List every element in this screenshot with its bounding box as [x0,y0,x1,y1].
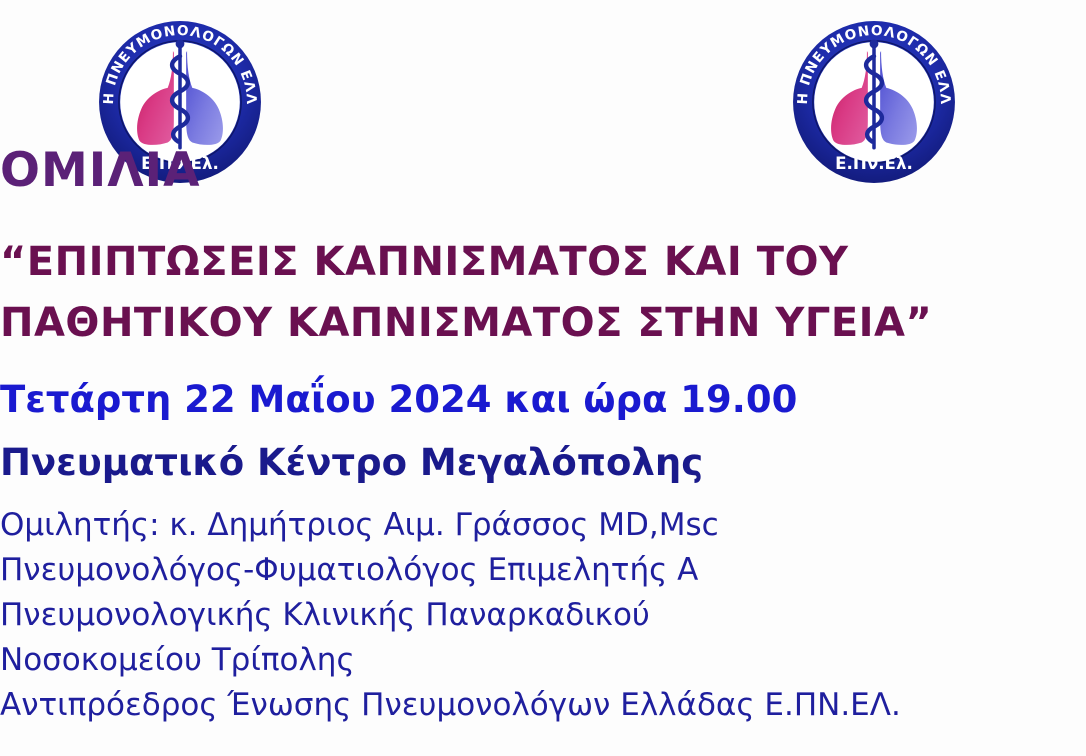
event-datetime: Τετάρτη 22 Μαΐου 2024 και ώρα 19.00 [0,368,1086,431]
poster-subject-title: “ΕΠΙΠΤΩΣΕΙΣ ΚΑΠΝΙΣΜΑΤΟΣ ΚΑΙ ΤΟΥ ΠΑΘΗΤΙΚΟ… [0,232,1086,354]
speaker-details: Ομιλητής: κ. Δημήτριος Αιμ. Γράσσος MD,M… [0,503,1086,728]
subject-line-2: ΠΑΘΗΤΙΚΟΥ ΚΑΠΝΙΣΜΑΤΟΣ ΣΤΗΝ ΥΓΕΙΑ” [0,293,1086,354]
speaker-name-line: Ομιλητής: κ. Δημήτριος Αιμ. Γράσσος MD,M… [0,503,1086,548]
poster-heading: ΟΜΙΛΙΑ [0,143,1086,198]
poster-datetime-venue: Τετάρτη 22 Μαΐου 2024 και ώρα 19.00 Πνευ… [0,368,1086,494]
speaker-hospital-line: Νοσοκομείου Τρίπολης [0,638,1086,683]
speaker-title-line: Πνευμονολόγος-Φυματιολόγος Επιμελητής Α [0,548,1086,593]
event-venue: Πνευματικό Κέντρο Μεγαλόπολης [0,431,1086,494]
subject-line-1: “ΕΠΙΠΤΩΣΕΙΣ ΚΑΠΝΙΣΜΑΤΟΣ ΚΑΙ ΤΟΥ [0,232,1086,293]
speaker-clinic-line: Πνευμονολογικής Κλινικής Παναρκαδικού [0,593,1086,638]
speaker-role-line: Αντιπρόεδρος Ένωσης Πνευμονολόγων Ελλάδα… [0,683,1086,728]
poster-canvas: ΕΝΩΣΗ ΠΝΕΥΜΟΝΟΛΟΓΩΝ ΕΛΛΑΔΑΣ Ε.Πν.Ελ. [0,0,1086,756]
